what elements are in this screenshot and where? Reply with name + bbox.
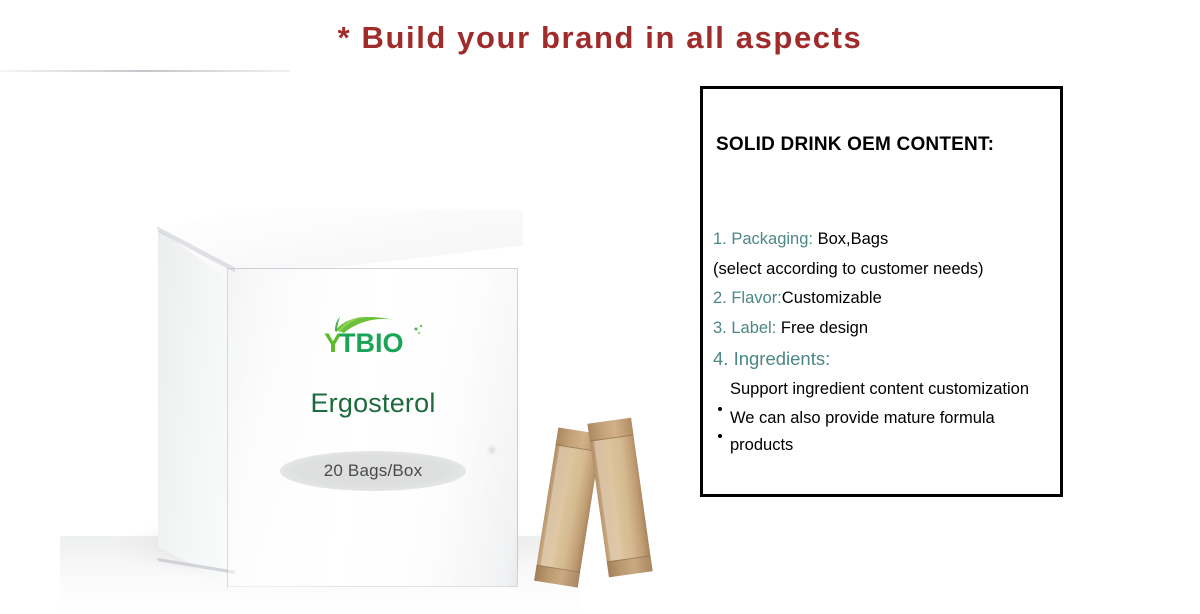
page-title: * Build your brand in all aspects <box>0 20 1200 56</box>
bullet-dot-icon <box>718 434 722 438</box>
sachet-right <box>587 418 652 578</box>
carton-edge-bottom <box>0 70 290 72</box>
carton-edge-left <box>227 268 228 588</box>
bullet-dot-icon <box>718 407 722 411</box>
spec-row-packaging-note: (select according to customer needs) <box>713 255 1058 285</box>
svg-text:TBIO: TBIO <box>339 328 404 358</box>
spec-row-label: 3. Label: Free design <box>713 314 1058 344</box>
spec-value-packaging: Box,Bags <box>813 230 888 248</box>
carton-edge-top <box>228 268 518 269</box>
sachet-pair <box>540 408 680 600</box>
spec-bullet-2-text: products <box>730 436 793 454</box>
spec-value-label: Free design <box>776 319 868 337</box>
quantity-badge: 20 Bags/Box <box>228 451 518 493</box>
spec-list: 1. Packaging: Box,Bags (select according… <box>713 225 1058 459</box>
spec-row-flavor: 2. Flavor:Customizable <box>713 284 1058 314</box>
spec-row-packaging: 1. Packaging: Box,Bags <box>713 225 1058 255</box>
ytbio-logo: Y TBIO <box>322 314 428 358</box>
product-name: Ergosterol <box>228 388 518 419</box>
spec-bullet-1: We can also provide mature formula <box>713 405 1058 432</box>
spec-detail-line: Support ingredient content customization <box>713 374 1058 405</box>
spec-label-label: 3. Label: <box>713 319 776 337</box>
spec-value-packaging-note: (select according to customer needs) <box>713 260 984 278</box>
panel-title: SOLID DRINK OEM CONTENT: <box>716 134 994 156</box>
spec-bullet-2: products <box>713 432 1058 459</box>
oem-content-panel: SOLID DRINK OEM CONTENT: 1. Packaging: B… <box>700 86 1063 497</box>
carton-left-face <box>158 228 232 586</box>
spec-label-ingredients: 4. Ingredients: <box>713 348 830 369</box>
spec-label-packaging: 1. Packaging: <box>713 230 813 248</box>
carton-edge-right <box>517 270 518 570</box>
spec-row-ingredients: 4. Ingredients: <box>713 343 1058 374</box>
product-photo: Y TBIO Ergosterol 20 Bags/Box <box>0 70 690 544</box>
spec-bullet-1-text: We can also provide mature formula <box>730 409 995 427</box>
promo-banner: * Build your brand in all aspects Y TBIO <box>0 0 1200 544</box>
spec-label-flavor: 2. Flavor: <box>713 289 782 307</box>
quantity-label: 20 Bags/Box <box>228 461 518 481</box>
spec-value-flavor: Customizable <box>782 289 882 307</box>
